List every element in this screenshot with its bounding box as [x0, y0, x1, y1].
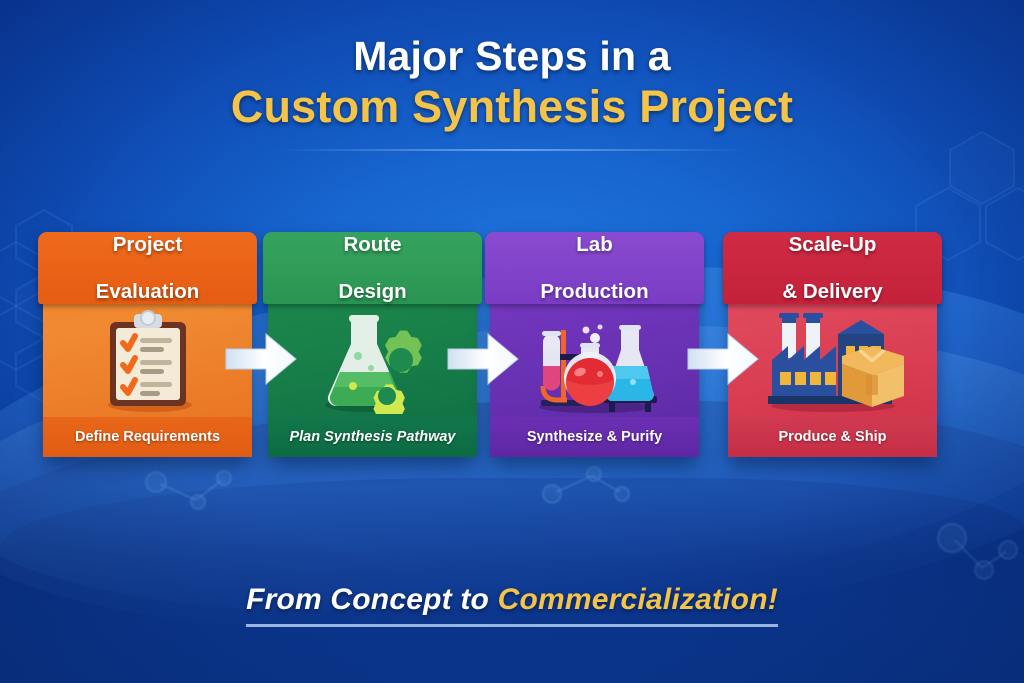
step-caption: Define Requirements — [43, 417, 252, 457]
step-title-line-1: Route — [332, 233, 412, 256]
step-title-line-1: Scale-Up — [776, 233, 888, 256]
background-bottom-band — [0, 478, 1024, 683]
step-title-line-2: Evaluation — [90, 280, 206, 303]
step-card-header: Scale-Up & Delivery — [723, 232, 942, 304]
step-card-header: Route Design — [263, 232, 482, 304]
title-divider — [277, 149, 747, 151]
step-title-line-1: Project — [90, 233, 206, 256]
arrow-step2-to-step3 — [446, 330, 520, 388]
infographic-canvas: Major Steps in a Custom Synthesis Projec… — [0, 0, 1024, 683]
arrow-step1-to-step2 — [224, 330, 298, 388]
footer-tagline: From Concept to Commercialization! — [0, 583, 1024, 627]
page-title: Major Steps in a Custom Synthesis Projec… — [0, 34, 1024, 151]
lab-glassware-icon — [490, 306, 699, 417]
step-caption: Produce & Ship — [728, 417, 937, 457]
step-title-line-2: Design — [332, 280, 412, 303]
step-title-line-2: Production — [534, 280, 654, 303]
title-line-1: Major Steps in a — [0, 34, 1024, 78]
step-caption: Plan Synthesis Pathway — [268, 417, 477, 457]
tagline-part-2: Commercialization! — [498, 583, 778, 616]
title-line-2: Custom Synthesis Project — [0, 82, 1024, 132]
clipboard-checklist-icon — [43, 306, 252, 417]
tagline-text: From Concept to Commercialization! — [246, 583, 778, 627]
step-title-line-1: Lab — [534, 233, 654, 256]
tagline-part-1: From Concept to — [246, 583, 498, 616]
step-card-project-evaluation[interactable]: Project Evaluation Define Requirements — [43, 232, 252, 457]
step-card-header: Lab Production — [485, 232, 704, 304]
step-caption: Synthesize & Purify — [490, 417, 699, 457]
step-card-lab-production[interactable]: Lab Production Synthesize & Purify — [490, 232, 699, 457]
step-title-line-2: & Delivery — [776, 280, 888, 303]
arrow-step3-to-step4 — [686, 330, 760, 388]
step-card-header: Project Evaluation — [38, 232, 257, 304]
